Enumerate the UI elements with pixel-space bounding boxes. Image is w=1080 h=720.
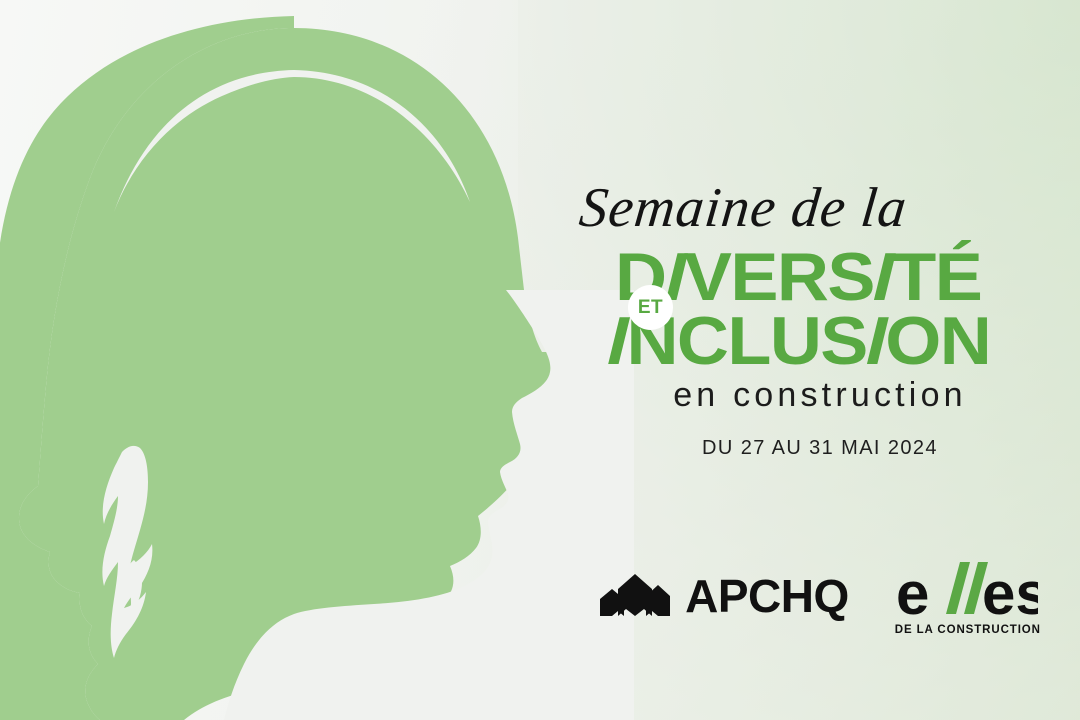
elles-es: es bbox=[982, 560, 1038, 622]
elles-logo: e es DE LA CONSTRUCTION bbox=[895, 560, 1041, 636]
content-column: Semaine de la DIVERSITÉ INCLUSION ET en … bbox=[560, 0, 1080, 720]
title-line-inclusion: INCLUSION bbox=[608, 311, 1080, 371]
title-on: ON bbox=[885, 303, 990, 379]
apchq-chevron-houses-icon bbox=[599, 572, 671, 620]
silhouette-group bbox=[0, 0, 634, 720]
script-headline: Semaine de la bbox=[578, 168, 1058, 248]
et-badge: ET bbox=[628, 285, 673, 330]
apchq-logo: APCHQ bbox=[599, 572, 849, 620]
date-range: DU 27 AU 31 MAI 2024 bbox=[560, 437, 1080, 460]
elles-tagline: DE LA CONSTRUCTION bbox=[895, 624, 1041, 636]
title-line-diversite: DIVERSITÉ bbox=[615, 247, 1080, 307]
poster-canvas: Semaine de la DIVERSITÉ INCLUSION ET en … bbox=[0, 0, 1080, 720]
worker-silhouette bbox=[0, 0, 634, 720]
elles-wordmark-icon: e es bbox=[898, 560, 1038, 622]
et-badge-label: ET bbox=[638, 297, 663, 319]
elles-e: e bbox=[898, 560, 929, 622]
subtitle: en construction bbox=[560, 376, 1080, 415]
apchq-wordmark: APCHQ bbox=[685, 573, 849, 619]
script-headline-text: Semaine de la bbox=[578, 177, 910, 239]
logo-row: APCHQ e es DE LA CONSTRUCTION bbox=[560, 556, 1080, 656]
